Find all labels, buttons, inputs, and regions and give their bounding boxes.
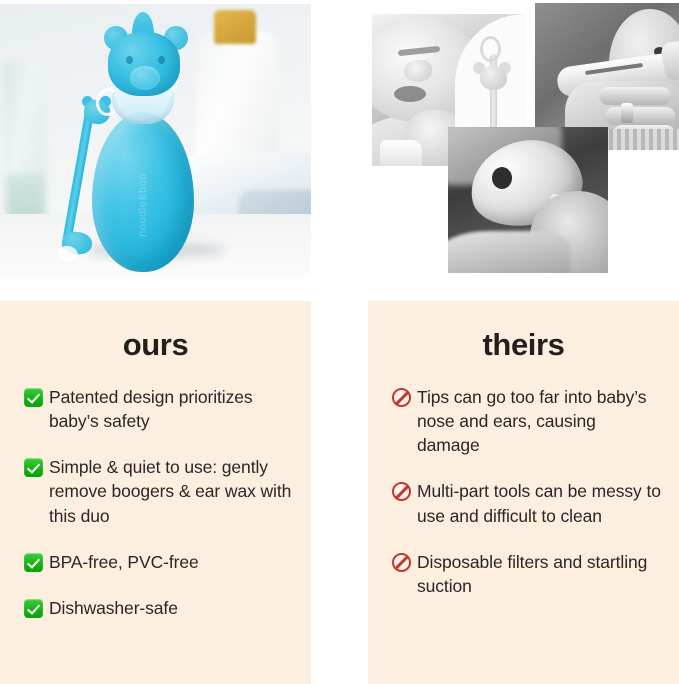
green-check-icon bbox=[24, 458, 43, 477]
top-image-row: noodle&boo bbox=[0, 0, 679, 288]
baby-sleeve-cuff bbox=[380, 140, 422, 166]
list-item-label: Simple & quiet to use: gently remove boo… bbox=[49, 455, 295, 527]
list-item: Tips can go too far into baby’s nose and… bbox=[392, 385, 663, 457]
baby-nose bbox=[404, 60, 432, 82]
list-item: BPA-free, PVC-free bbox=[24, 550, 295, 574]
comparison-infographic: noodle&boo bbox=[0, 0, 679, 684]
theirs-bullet-list: Tips can go too far into baby’s nose and… bbox=[384, 363, 663, 598]
bulb-opening bbox=[492, 167, 512, 189]
theirs-panel-title: theirs bbox=[384, 301, 663, 363]
ear-pick-loop-icon bbox=[480, 36, 501, 62]
competitor-photo-collage bbox=[368, 0, 679, 288]
green-check-icon bbox=[24, 388, 43, 407]
red-prohibition-icon bbox=[392, 482, 411, 501]
bulb-syringe-closeup-photo bbox=[448, 127, 608, 273]
product-brand-text: noodle&boo bbox=[137, 173, 149, 237]
list-item-label: Multi-part tools can be messy to use and… bbox=[417, 479, 663, 527]
ear-pick-bear-head-icon bbox=[480, 66, 507, 90]
ring-icon bbox=[621, 103, 633, 123]
ours-bullet-list: Patented design prioritizes baby’s safet… bbox=[16, 363, 295, 620]
ours-panel-title: ours bbox=[16, 301, 295, 363]
red-prohibition-icon bbox=[392, 388, 411, 407]
list-item-label: Tips can go too far into baby’s nose and… bbox=[417, 385, 663, 457]
green-check-icon bbox=[24, 553, 43, 572]
baby-mouth bbox=[394, 86, 426, 102]
bulb-syringe-body-icon: noodle&boo bbox=[92, 112, 194, 272]
finger bbox=[599, 87, 671, 105]
background-gold-cap-icon bbox=[214, 10, 256, 44]
list-item: Multi-part tools can be messy to use and… bbox=[392, 479, 663, 527]
bear-eye-left-icon bbox=[126, 56, 133, 64]
list-item: Dishwasher-safe bbox=[24, 596, 295, 620]
theirs-panel: theirs Tips can go too far into baby’s n… bbox=[368, 301, 679, 684]
list-item-label: Disposable filters and startling suction bbox=[417, 550, 663, 598]
bear-snout-icon bbox=[130, 66, 160, 90]
ours-panel: ours Patented design prioritizes baby’s … bbox=[0, 301, 311, 684]
blanket bbox=[448, 231, 570, 273]
list-item: Simple & quiet to use: gently remove boo… bbox=[24, 455, 295, 527]
finger bbox=[605, 107, 675, 125]
list-item-label: BPA-free, PVC-free bbox=[49, 550, 295, 574]
list-item: Patented design prioritizes baby’s safet… bbox=[24, 385, 295, 433]
green-check-icon bbox=[24, 599, 43, 618]
bear-eye-right-icon bbox=[158, 56, 165, 64]
list-item-label: Patented design prioritizes baby’s safet… bbox=[49, 385, 295, 433]
list-item: Disposable filters and startling suction bbox=[392, 550, 663, 598]
product-photo: noodle&boo bbox=[0, 4, 311, 276]
red-prohibition-icon bbox=[392, 553, 411, 572]
list-item-label: Dishwasher-safe bbox=[49, 596, 295, 620]
